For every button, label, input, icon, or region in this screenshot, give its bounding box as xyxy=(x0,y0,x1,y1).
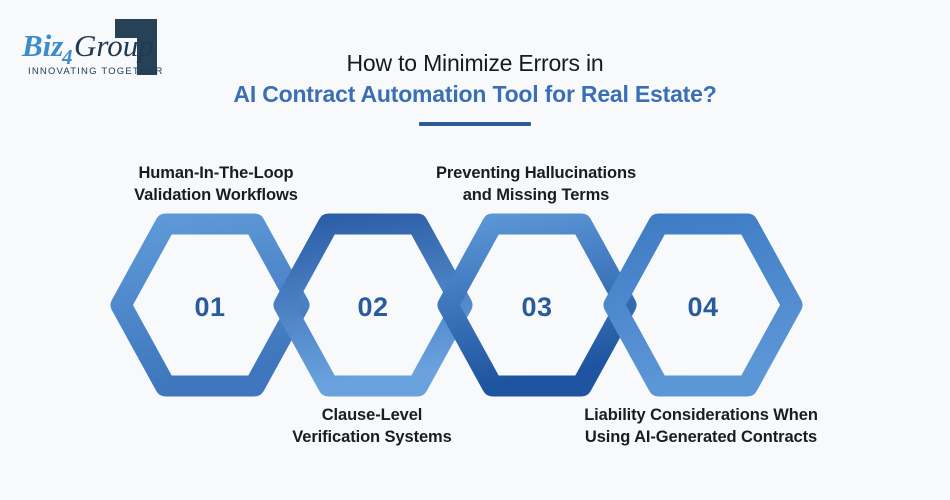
step-2-caption: Clause-Level Verification Systems xyxy=(282,404,462,448)
hexagon-step-1[interactable]: 01 xyxy=(121,224,299,386)
page-title: How to Minimize Errors in AI Contract Au… xyxy=(180,48,770,126)
step-3-caption-line-1: Preventing Hallucinations xyxy=(426,162,646,184)
title-divider xyxy=(419,122,531,126)
step-3-caption: Preventing Hallucinations and Missing Te… xyxy=(426,162,646,206)
step-1-caption-line-2: Validation Workflows xyxy=(120,184,312,206)
step-1-caption: Human-In-The-Loop Validation Workflows xyxy=(120,162,312,206)
logo-wordmark: Biz 4 Group xyxy=(21,28,154,69)
svg-text:Biz: Biz xyxy=(21,28,63,63)
hexagon-step-1-number: 01 xyxy=(194,292,225,322)
step-3-caption-line-2: and Missing Terms xyxy=(426,184,646,206)
title-line-highlight: AI Contract Automation Tool for Real Est… xyxy=(180,78,770,110)
hexagon-step-3-number: 03 xyxy=(521,292,552,322)
step-1-caption-line-1: Human-In-The-Loop xyxy=(120,162,312,184)
hexagon-step-2[interactable]: 02 xyxy=(284,224,462,386)
hexagon-step-3[interactable]: 03 xyxy=(448,224,626,386)
title-line-primary: How to Minimize Errors in xyxy=(180,48,770,78)
brand-logo[interactable]: Biz 4 Group INNOVATING TOGETHER xyxy=(20,12,180,82)
logo-tagline: INNOVATING TOGETHER xyxy=(28,66,164,77)
hexagon-step-4[interactable]: 04 xyxy=(614,224,792,386)
step-2-caption-line-2: Verification Systems xyxy=(282,426,462,448)
hexagon-step-4-number: 04 xyxy=(687,292,718,322)
step-4-caption-line-2: Using AI-Generated Contracts xyxy=(548,426,854,448)
hexagon-step-2-number: 02 xyxy=(357,292,388,322)
step-4-caption-line-1: Liability Considerations When xyxy=(548,404,854,426)
svg-text:Group: Group xyxy=(74,28,154,63)
step-2-caption-line-1: Clause-Level xyxy=(282,404,462,426)
step-4-caption: Liability Considerations When Using AI-G… xyxy=(548,404,854,448)
